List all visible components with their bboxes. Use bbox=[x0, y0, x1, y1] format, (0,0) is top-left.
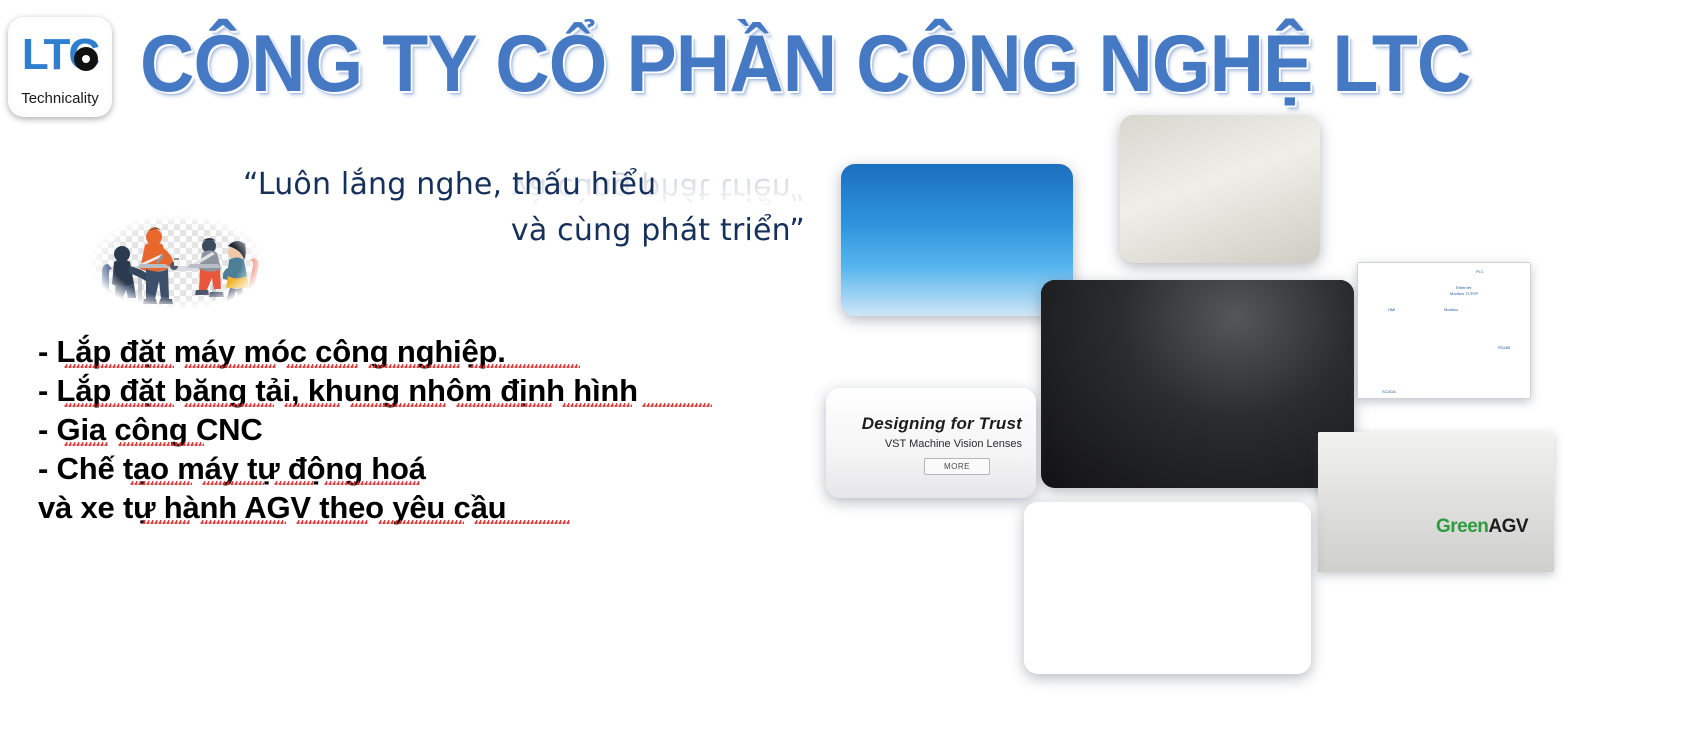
list-item: - Lắp đặt băng tải, khung nhôm định hình bbox=[38, 371, 798, 410]
logo-tagline: Technicality bbox=[8, 90, 112, 107]
page-title: CÔNG TY CỔ PHẦN CÔNG NGHỆ LTC bbox=[140, 18, 1396, 110]
list-item: và xe tự hành AGV theo yêu cầu bbox=[38, 488, 798, 527]
net-label-scada: SCADA bbox=[1382, 389, 1396, 394]
agv-vehicle-photo: GreenAGV bbox=[1318, 432, 1554, 572]
gear-eye-icon bbox=[74, 47, 98, 71]
net-label-hmi: HMI bbox=[1388, 307, 1395, 312]
industrial-robot-arm-photo bbox=[841, 164, 1073, 316]
cnc-machining-photo bbox=[1041, 280, 1354, 488]
agv-brand-mark: Green bbox=[1436, 516, 1488, 537]
team-meeting-illustration bbox=[78, 206, 276, 318]
net-label-modbus-tcp: Modbus TCP/IP bbox=[1450, 291, 1478, 296]
net-label-plc: PLC bbox=[1476, 269, 1484, 274]
service-text-5: và xe tự hành AGV theo yêu cầu bbox=[38, 490, 506, 525]
service-text-1: - Lắp đặt máy móc công nghiệp. bbox=[38, 334, 506, 369]
company-slogan: “Luôn lắng nghe, thấu hiểu và cùng phát … bbox=[243, 162, 823, 254]
industrial-network-diagram: Ethernet Modbus TCP/IP PLC HMI SCADA Mod… bbox=[1357, 262, 1531, 399]
lens-ad-more-button[interactable]: MORE bbox=[924, 458, 990, 475]
services-list: - Lắp đặt máy móc công nghiệp. - Lắp đặt… bbox=[38, 332, 798, 527]
agv-caption: GreenAGV bbox=[1436, 516, 1528, 538]
slide-canvas: LTC Technicality CÔNG TY CỔ PHẦN CÔNG NG… bbox=[0, 0, 1686, 733]
lens-ad-subhead: VST Machine Vision Lenses bbox=[885, 438, 1022, 450]
company-logo: LTC Technicality bbox=[8, 17, 112, 117]
list-item: - Lắp đặt máy móc công nghiệp. bbox=[38, 332, 798, 371]
net-label-ethernet: Ethernet bbox=[1456, 285, 1471, 290]
team-illustration-svg bbox=[78, 206, 276, 318]
service-text-3: - Gia công CNC bbox=[38, 412, 263, 447]
slogan-line-2: và cùng phát triển” bbox=[243, 208, 823, 254]
service-text-4: - Chế tạo máy tự động hoá bbox=[38, 451, 426, 486]
net-label-modbus: Modbus bbox=[1444, 307, 1458, 312]
lens-ad-headline: Designing for Trust bbox=[862, 414, 1022, 434]
list-item: - Chế tạo máy tự động hoá bbox=[38, 449, 798, 488]
service-text-2: - Lắp đặt băng tải, khung nhôm định hình bbox=[38, 373, 638, 408]
machine-vision-lens-ad: Designing for Trust VST Machine Vision L… bbox=[826, 388, 1036, 498]
list-item: - Gia công CNC bbox=[38, 410, 798, 449]
belt-conveyor-photo bbox=[1024, 502, 1311, 674]
electrical-control-cabinet-photo bbox=[1120, 115, 1320, 263]
net-label-rs485: RS485 bbox=[1498, 345, 1510, 350]
slogan-line-1: “Luôn lắng nghe, thấu hiểu bbox=[243, 162, 823, 208]
